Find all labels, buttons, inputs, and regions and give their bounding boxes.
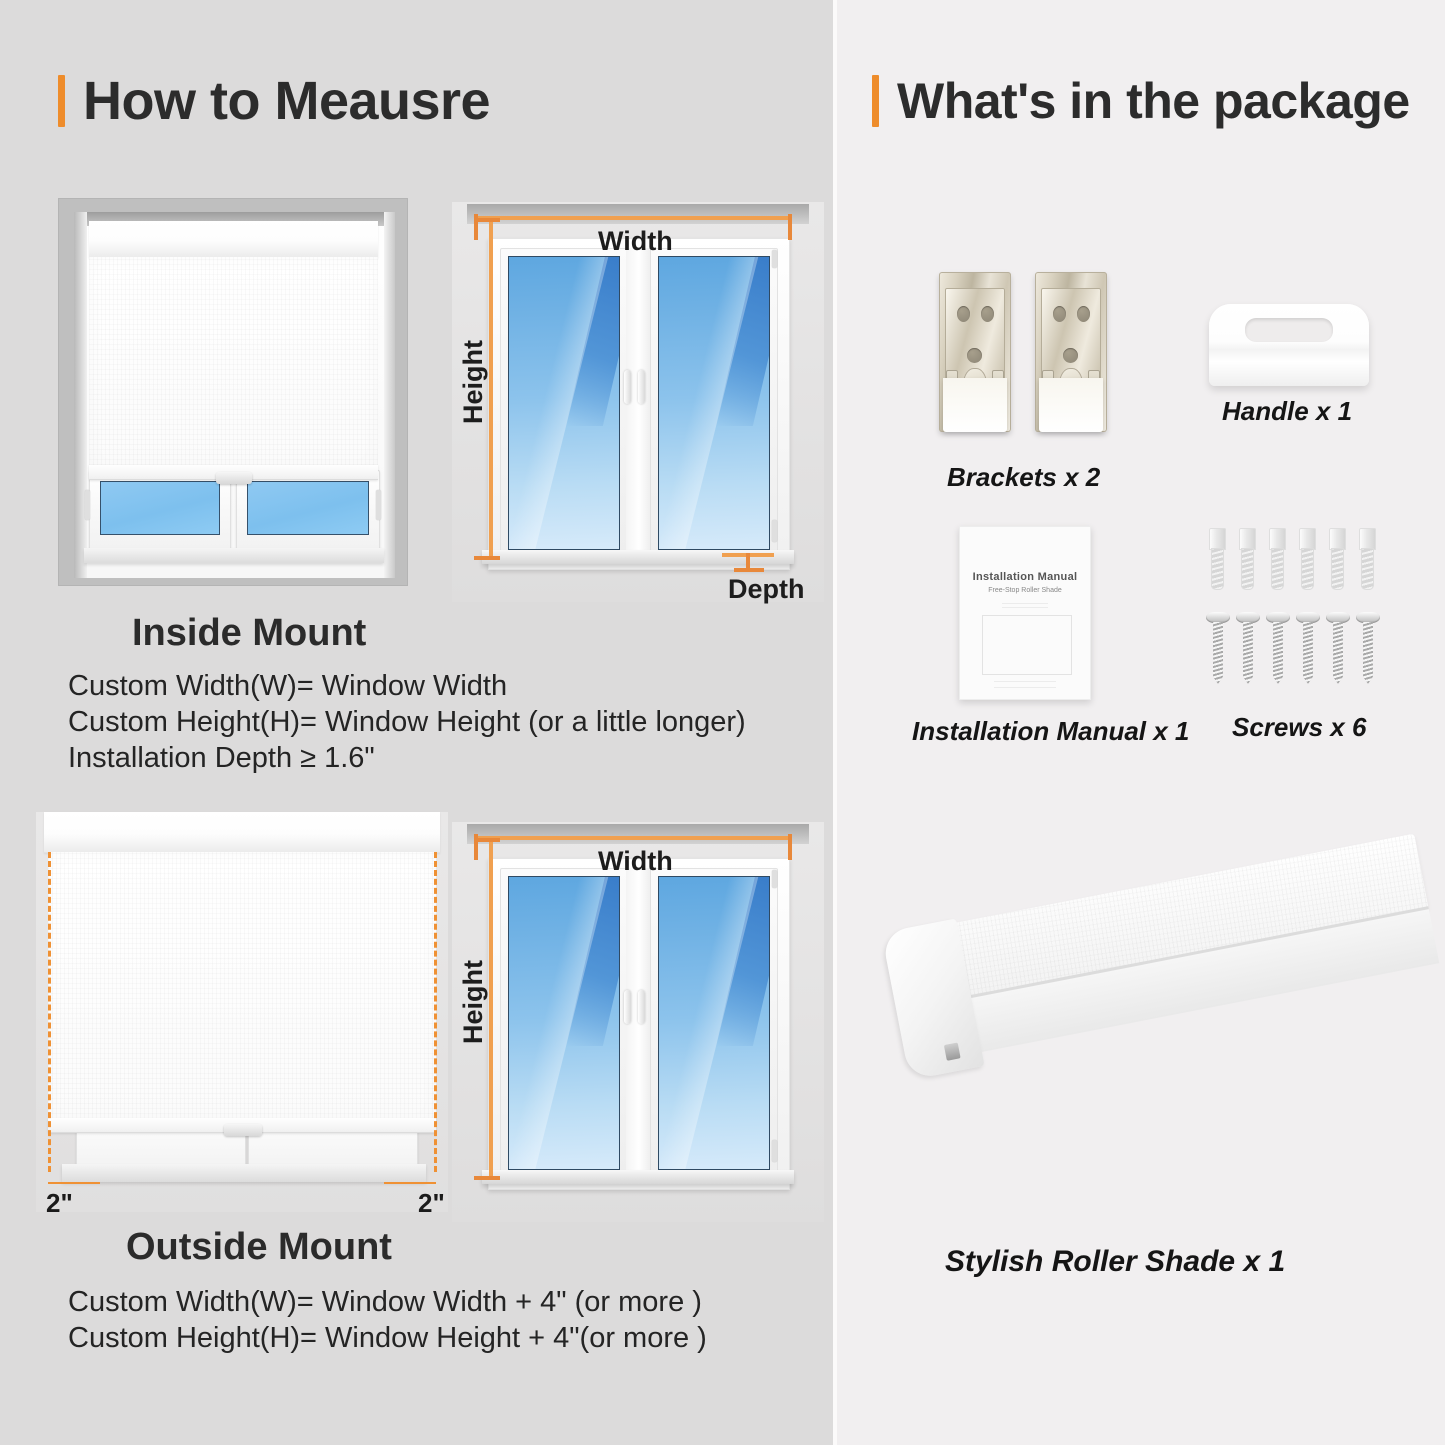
wall-anchor-icon bbox=[1329, 528, 1346, 590]
roller-shade-pin bbox=[944, 1042, 961, 1060]
window-hinge-bottom-right bbox=[772, 520, 777, 542]
anchor-head bbox=[1209, 528, 1226, 550]
width-dim-cap-right bbox=[788, 214, 792, 240]
sash-hinge-left bbox=[85, 490, 90, 520]
anchor-body bbox=[1301, 548, 1314, 590]
inside-mount-heading: Inside Mount bbox=[132, 612, 366, 655]
inside-mount-illustration bbox=[58, 198, 408, 586]
manual-cover-subtitle: Free-Stop Roller Shade bbox=[960, 587, 1090, 594]
bracket-foot bbox=[943, 378, 1007, 432]
bracket-hole bbox=[1063, 348, 1078, 363]
depth-dim-cap-end bbox=[734, 568, 764, 572]
manual-figure-box bbox=[982, 615, 1072, 675]
window-hinge-bottom-right bbox=[772, 1140, 777, 1162]
overhang-guide-left bbox=[48, 852, 51, 1172]
window-hinge-top-right bbox=[772, 250, 777, 268]
height-dim-cap-top bbox=[474, 838, 500, 842]
inside-mount-line-2: Custom Height(H)= Window Height (or a li… bbox=[68, 706, 746, 739]
window-handle-right bbox=[638, 990, 645, 1024]
screw-shank bbox=[1363, 622, 1373, 684]
handle-grip-slot bbox=[1245, 318, 1333, 342]
anchor-head bbox=[1329, 528, 1346, 550]
width-dim-cap-right bbox=[788, 834, 792, 860]
window-sill bbox=[62, 1164, 426, 1182]
window-glass-right bbox=[658, 876, 770, 1170]
shade-headrail bbox=[44, 812, 440, 853]
screw-head bbox=[1206, 612, 1230, 623]
roller-shade-label: Stylish Roller Shade x 1 bbox=[945, 1245, 1285, 1279]
screw-shank bbox=[1243, 622, 1253, 684]
handle-icon bbox=[1209, 304, 1369, 386]
screw-icon bbox=[1359, 612, 1377, 684]
bracket-hole bbox=[967, 348, 982, 363]
width-dimension-line bbox=[474, 216, 792, 220]
height-label: Height bbox=[458, 340, 489, 424]
manual-cover-title: Installation Manual bbox=[960, 571, 1090, 583]
roller-tube-group bbox=[892, 795, 1445, 1120]
bracket-icon bbox=[939, 272, 1011, 432]
bracket-plate bbox=[945, 288, 1005, 380]
shade-fabric bbox=[89, 257, 378, 470]
height-dimension-line bbox=[489, 220, 493, 558]
manual-label: Installation Manual x 1 bbox=[912, 716, 1189, 747]
window-sill bbox=[482, 1170, 794, 1184]
window-sill bbox=[84, 548, 384, 563]
recess-left-reveal bbox=[74, 212, 87, 578]
diagram-lintel bbox=[467, 204, 809, 224]
overhang-guide-right bbox=[434, 852, 437, 1172]
width-label: Width bbox=[598, 846, 673, 877]
screws-label: Screws x 6 bbox=[1232, 712, 1366, 743]
bracket-hole bbox=[957, 306, 970, 322]
wall-anchor-icon bbox=[1269, 528, 1286, 590]
window-glass-right bbox=[247, 481, 369, 535]
anchor-body bbox=[1271, 548, 1284, 590]
width-dimension-line bbox=[474, 836, 792, 840]
bracket-plate bbox=[1041, 288, 1101, 380]
window-dimension-diagram-inside: Width Height Depth bbox=[452, 202, 824, 602]
title-text: What's in the package bbox=[897, 72, 1410, 130]
window-glass-left bbox=[508, 256, 620, 550]
inside-mount-line-1: Custom Width(W)= Window Width bbox=[68, 670, 507, 703]
anchor-head bbox=[1299, 528, 1316, 550]
screw-shank bbox=[1213, 622, 1223, 684]
manual-rule bbox=[1002, 607, 1048, 608]
overhang-arrow-left bbox=[48, 1182, 100, 1184]
package-contents-panel: What's in the package Brackets x 2 bbox=[837, 0, 1445, 1445]
height-dim-cap-top bbox=[474, 218, 500, 222]
window-handle-right bbox=[638, 370, 645, 404]
recess-right-reveal bbox=[384, 212, 395, 578]
manual-rule bbox=[1002, 603, 1048, 604]
screw-head bbox=[1326, 612, 1350, 623]
shade-pull-handle bbox=[216, 472, 252, 484]
shade-fabric bbox=[48, 852, 436, 1124]
infographic-page: How to Meausre bbox=[0, 0, 1445, 1445]
height-dim-cap-bottom bbox=[474, 1176, 500, 1180]
anchor-body bbox=[1241, 548, 1254, 590]
manual-rule bbox=[994, 681, 1056, 682]
handle-label: Handle x 1 bbox=[1222, 396, 1352, 427]
window-handle-left bbox=[624, 370, 631, 404]
screw-icon bbox=[1269, 612, 1287, 684]
screw-head bbox=[1266, 612, 1290, 623]
overhang-label-left: 2" bbox=[46, 1188, 73, 1219]
window-dimension-diagram-outside: Width Height bbox=[452, 822, 824, 1222]
title-text: How to Meausre bbox=[83, 70, 490, 132]
screw-head bbox=[1356, 612, 1380, 623]
how-to-measure-panel: How to Meausre bbox=[0, 0, 833, 1445]
overhang-label-right: 2" bbox=[418, 1188, 445, 1219]
screw-icon bbox=[1239, 612, 1257, 684]
outside-mount-illustration: 2" 2" bbox=[36, 812, 448, 1212]
wall-anchor-icon bbox=[1359, 528, 1376, 590]
wall-anchor-icon bbox=[1299, 528, 1316, 590]
screw-shank bbox=[1273, 622, 1283, 684]
roller-shade-icon bbox=[900, 880, 1445, 1210]
shade-headrail bbox=[89, 221, 378, 258]
screws-group bbox=[1209, 528, 1389, 688]
screw-shank bbox=[1303, 622, 1313, 684]
anchor-head bbox=[1239, 528, 1256, 550]
window-glass-left bbox=[508, 876, 620, 1170]
width-label: Width bbox=[598, 226, 673, 257]
window-glass-left bbox=[100, 481, 220, 535]
bracket-foot bbox=[1039, 378, 1103, 432]
page-title-package: What's in the package bbox=[872, 72, 1410, 130]
screw-shank bbox=[1333, 622, 1343, 684]
overhang-arrow-right bbox=[384, 1182, 436, 1184]
manual-icon: Installation Manual Free-Stop Roller Sha… bbox=[959, 526, 1091, 700]
height-dimension-line bbox=[489, 840, 493, 1178]
anchor-head bbox=[1269, 528, 1286, 550]
inside-mount-line-3: Installation Depth ≥ 1.6" bbox=[68, 742, 375, 775]
window-hinge-top-right bbox=[772, 870, 777, 888]
sash-hinge-right bbox=[376, 490, 381, 520]
screw-icon bbox=[1299, 612, 1317, 684]
window-glass-right bbox=[658, 256, 770, 550]
page-title-how-to-measure: How to Meausre bbox=[58, 70, 490, 132]
outside-mount-line-1: Custom Width(W)= Window Width + 4" (or m… bbox=[68, 1286, 702, 1319]
shade-pull-handle bbox=[224, 1124, 262, 1136]
wall-anchor-icon bbox=[1209, 528, 1226, 590]
height-dim-cap-bottom bbox=[474, 556, 500, 560]
wall-anchor-icon bbox=[1239, 528, 1256, 590]
bracket-hole bbox=[1077, 306, 1090, 322]
anchor-body bbox=[1331, 548, 1344, 590]
accent-bar-icon bbox=[58, 75, 65, 127]
height-label: Height bbox=[458, 960, 489, 1044]
diagram-lintel bbox=[467, 824, 809, 844]
bracket-hole bbox=[981, 306, 994, 322]
screw-icon bbox=[1209, 612, 1227, 684]
outside-mount-line-2: Custom Height(H)= Window Height + 4"(or … bbox=[68, 1322, 707, 1355]
accent-bar-icon bbox=[872, 75, 879, 127]
anchor-body bbox=[1361, 548, 1374, 590]
anchor-body bbox=[1211, 548, 1224, 590]
brackets-label: Brackets x 2 bbox=[947, 462, 1100, 493]
bracket-icon bbox=[1035, 272, 1107, 432]
screw-head bbox=[1296, 612, 1320, 623]
anchor-head bbox=[1359, 528, 1376, 550]
manual-rule bbox=[994, 687, 1056, 688]
bracket-hole bbox=[1053, 306, 1066, 322]
screw-icon bbox=[1329, 612, 1347, 684]
screw-head bbox=[1236, 612, 1260, 623]
window-handle-left bbox=[624, 990, 631, 1024]
outside-mount-heading: Outside Mount bbox=[126, 1226, 392, 1269]
depth-label: Depth bbox=[728, 574, 805, 605]
